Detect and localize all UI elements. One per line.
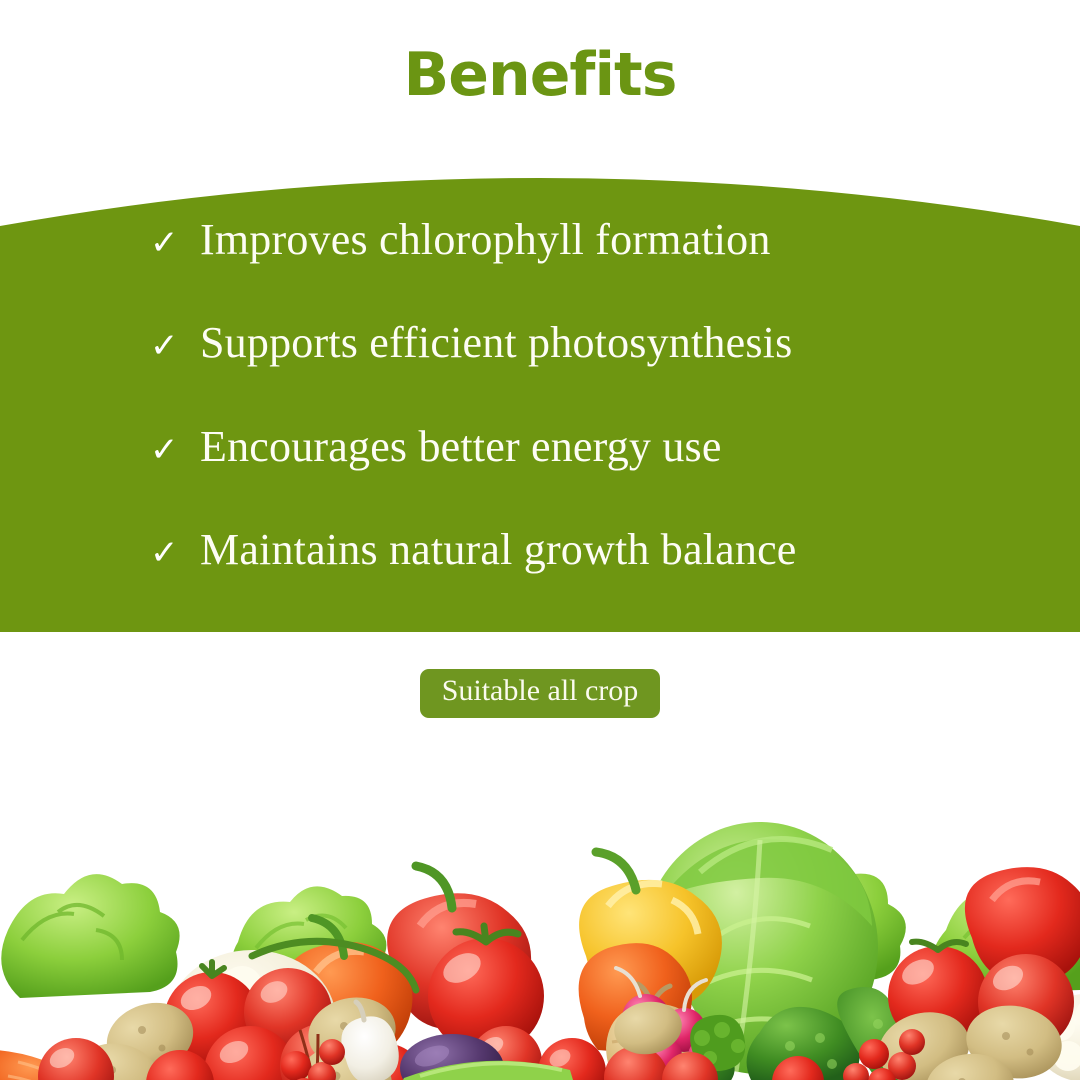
list-item-label: Maintains natural growth balance [200,528,797,572]
vegetables-photo [0,780,1080,1080]
list-item: ✓ Maintains natural growth balance [150,528,797,572]
list-item-label: Encourages better energy use [200,425,722,469]
list-item: ✓ Improves chlorophyll formation [150,218,771,262]
list-item-label: Improves chlorophyll formation [200,218,771,262]
vegetables-illustration [0,780,1080,1080]
check-icon: ✓ [150,226,200,260]
lettuce-cluster-left [1,874,179,998]
list-item: ✓ Supports efficient photosynthesis [150,321,792,365]
check-icon: ✓ [150,329,200,363]
check-icon: ✓ [150,433,200,467]
badge-container: Suitable all crop [0,669,1080,718]
benefits-list: ✓ Improves chlorophyll formation ✓ Suppo… [0,140,1080,632]
check-icon: ✓ [150,536,200,570]
status-badge: Suitable all crop [420,669,661,718]
page-title: Benefits [404,44,677,107]
benefits-poster: Benefits ✓ Improves chlorophyll formatio… [0,0,1080,1080]
list-item-label: Supports efficient photosynthesis [200,321,792,365]
page-title-container: Benefits [0,44,1080,107]
list-item: ✓ Encourages better energy use [150,425,722,469]
